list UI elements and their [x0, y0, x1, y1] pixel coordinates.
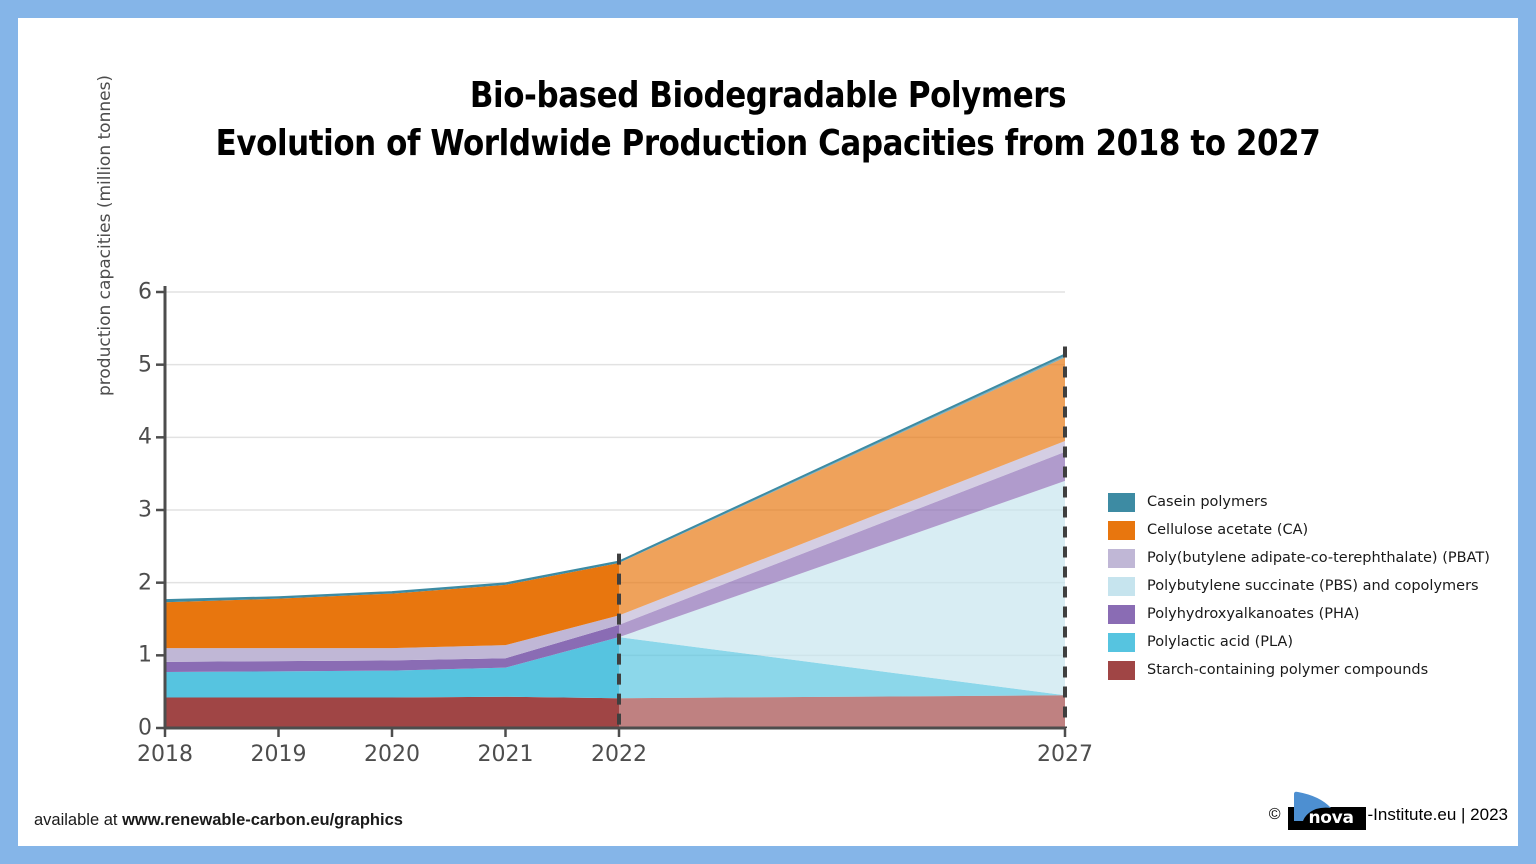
y-tick-label: 0 — [138, 716, 152, 741]
legend: Casein polymersCellulose acetate (CA)Pol… — [1108, 488, 1508, 684]
x-tick-label: 2022 — [591, 742, 647, 767]
legend-swatch — [1108, 605, 1135, 624]
legend-swatch — [1108, 577, 1135, 596]
footer-credit-text: -Institute.eu | 2023 — [1367, 805, 1508, 825]
legend-item[interactable]: Cellulose acetate (CA) — [1108, 516, 1508, 544]
stacked-areas — [165, 354, 1065, 728]
footer-availability: available at www.renewable-carbon.eu/gra… — [34, 811, 403, 830]
y-tick-label: 2 — [138, 570, 152, 595]
chart-canvas: Bio-based Biodegradable Polymers Evoluti… — [18, 18, 1518, 846]
y-axis-label: production capacities (million tonnes) — [95, 66, 115, 396]
poster-page: Bio-based Biodegradable Polymers Evoluti… — [0, 0, 1536, 864]
nova-logo-word: nova — [1308, 808, 1353, 828]
y-tick-label: 4 — [138, 425, 152, 450]
legend-label: Cellulose acetate (CA) — [1147, 522, 1308, 538]
x-tick-label: 2027 — [1037, 742, 1093, 767]
legend-item[interactable]: Poly(butylene adipate-co-terephthalate) … — [1108, 544, 1508, 572]
legend-item[interactable]: Polyhydroxyalkanoates (PHA) — [1108, 600, 1508, 628]
x-tick-label: 2020 — [364, 742, 420, 767]
legend-label: Poly(butylene adipate-co-terephthalate) … — [1147, 550, 1490, 566]
legend-swatch — [1108, 661, 1135, 680]
legend-label: Polybutylene succinate (PBS) and copolym… — [1147, 578, 1479, 594]
x-tick-label: 2019 — [251, 742, 307, 767]
legend-swatch — [1108, 549, 1135, 568]
copyright-icon: © — [1269, 806, 1281, 824]
legend-label: Starch-containing polymer compounds — [1147, 662, 1428, 678]
x-tick-label: 2021 — [478, 742, 534, 767]
legend-label: Casein polymers — [1147, 494, 1268, 510]
plot-area: production capacities (million tonnes) 0… — [165, 292, 1065, 728]
legend-swatch — [1108, 633, 1135, 652]
legend-item[interactable]: Starch-containing polymer compounds — [1108, 656, 1508, 684]
chart-region: production capacities (million tonnes) 0… — [18, 18, 1518, 846]
y-tick-label: 3 — [138, 498, 152, 523]
area-band-forecast — [619, 695, 1065, 728]
y-tick-label: 6 — [138, 280, 152, 305]
legend-item[interactable]: Casein polymers — [1108, 488, 1508, 516]
y-tick-label: 5 — [138, 352, 152, 377]
x-tick-label: 2018 — [137, 742, 193, 767]
legend-item[interactable]: Polylactic acid (PLA) — [1108, 628, 1508, 656]
y-tick-label: 1 — [138, 643, 152, 668]
legend-label: Polylactic acid (PLA) — [1147, 634, 1293, 650]
footer-available-prefix: available at — [34, 811, 122, 829]
legend-swatch — [1108, 493, 1135, 512]
footer-available-url[interactable]: www.renewable-carbon.eu/graphics — [122, 811, 403, 829]
legend-item[interactable]: Polybutylene succinate (PBS) and copolym… — [1108, 572, 1508, 600]
nova-logo-icon: nova — [1288, 798, 1366, 832]
legend-label: Polyhydroxyalkanoates (PHA) — [1147, 606, 1359, 622]
area-chart-svg — [165, 292, 1065, 728]
footer-credit: © nova -Institute.eu | 2023 — [1269, 798, 1508, 832]
legend-swatch — [1108, 521, 1135, 540]
area-band-historical — [165, 697, 619, 728]
